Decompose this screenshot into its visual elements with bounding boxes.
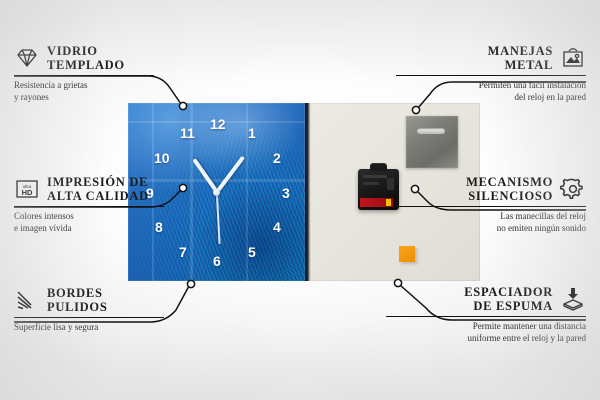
clock-numeral-12: 12 — [210, 117, 226, 131]
callout-rule — [14, 75, 154, 76]
foam-spacer — [399, 246, 415, 262]
callout-rule — [14, 317, 164, 318]
callout-title-line1: MECANISMO — [466, 175, 553, 189]
callout-vidrio-templado: VIDRIO TEMPLADO Resistencia a grietas y … — [14, 44, 154, 103]
callout-desc-line1: Las manecillas del reloj — [396, 211, 586, 223]
callout-desc-line1: Superficie lisa y segura — [14, 322, 164, 334]
callout-bordes-pulidos: BORDES PULIDOS Superficie lisa y segura — [14, 286, 164, 334]
polished-edges-icon — [14, 287, 40, 313]
callout-desc-line2: no emiten ningún sonido — [396, 223, 586, 235]
callout-title-line2: DE ESPUMA — [464, 299, 553, 313]
callout-desc-line2: del reloj en la pared — [396, 92, 586, 104]
mechanism-detail — [363, 182, 379, 185]
callout-desc-line2: uniforme entre el reloj y la pared — [386, 333, 586, 345]
mechanism-detail — [363, 175, 387, 178]
callout-rule — [396, 206, 586, 207]
callout-desc-line2: y rayones — [14, 92, 154, 104]
callout-espaciador-espuma: ESPACIADOR DE ESPUMA Permite mantener un… — [386, 285, 586, 344]
clock-numeral-1: 1 — [248, 126, 256, 140]
svg-text:HD: HD — [22, 188, 33, 197]
callout-title-line2: METAL — [488, 58, 553, 72]
callout-title-line2: ALTA CALIDAD — [47, 189, 149, 203]
clock-numeral-4: 4 — [273, 220, 281, 234]
mechanism-tab — [370, 163, 387, 171]
clock-numeral-10: 10 — [154, 151, 170, 165]
mechanism-label-mark — [386, 199, 391, 206]
callout-manejas-metal: MANEJAS METAL Permiten una fácil instala… — [396, 44, 586, 103]
clock-numeral-3: 3 — [282, 186, 290, 200]
clock-numeral-5: 5 — [248, 245, 256, 259]
metal-hanger-plate — [406, 116, 458, 168]
callout-desc-line1: Permite mantener una distancia — [386, 321, 586, 333]
callout-desc-line1: Colores intensos — [14, 211, 164, 223]
callout-title-line1: IMPRESIÓN DE — [47, 175, 149, 189]
callout-rule — [386, 316, 586, 317]
gear-icon — [560, 176, 586, 202]
callout-rule — [14, 206, 164, 207]
callout-desc-line1: Permiten una fácil instalación — [396, 80, 586, 92]
clock-center-cap — [213, 189, 220, 196]
quartz-mechanism — [358, 169, 399, 210]
diamond-icon — [14, 45, 40, 71]
mechanism-label — [360, 198, 393, 207]
callout-rule — [396, 75, 586, 76]
callout-title-line2: PULIDOS — [47, 300, 107, 314]
callout-title-line1: MANEJAS — [488, 44, 553, 58]
callout-title-line1: VIDRIO — [47, 44, 125, 58]
infographic-canvas: 12 1 2 3 4 5 6 7 8 9 10 11 — [0, 0, 600, 400]
clock-numeral-11: 11 — [180, 126, 195, 140]
callout-desc-line1: Resistencia a grietas — [14, 80, 154, 92]
callout-desc-line2: e imagen vívida — [14, 223, 164, 235]
callout-title-line2: SILENCIOSO — [466, 189, 553, 203]
clock-numeral-2: 2 — [273, 151, 281, 165]
callout-title-line1: ESPACIADOR — [464, 285, 553, 299]
callout-mecanismo-silencioso: MECANISMO SILENCIOSO Las manecillas del … — [396, 175, 586, 234]
clock-numeral-7: 7 — [179, 245, 187, 259]
callout-title-line1: BORDES — [47, 286, 107, 300]
clock-numeral-6: 6 — [213, 254, 221, 268]
picture-hanger-icon — [560, 45, 586, 71]
callout-title-line2: TEMPLADO — [47, 58, 125, 72]
ultra-hd-icon: ultra HD — [14, 176, 40, 202]
hanger-slot — [417, 128, 445, 134]
callout-impresion-alta-calidad: ultra HD IMPRESIÓN DE ALTA CALIDAD Color… — [14, 175, 164, 234]
foam-spacer-icon — [560, 286, 586, 312]
mechanism-detail — [387, 178, 394, 190]
